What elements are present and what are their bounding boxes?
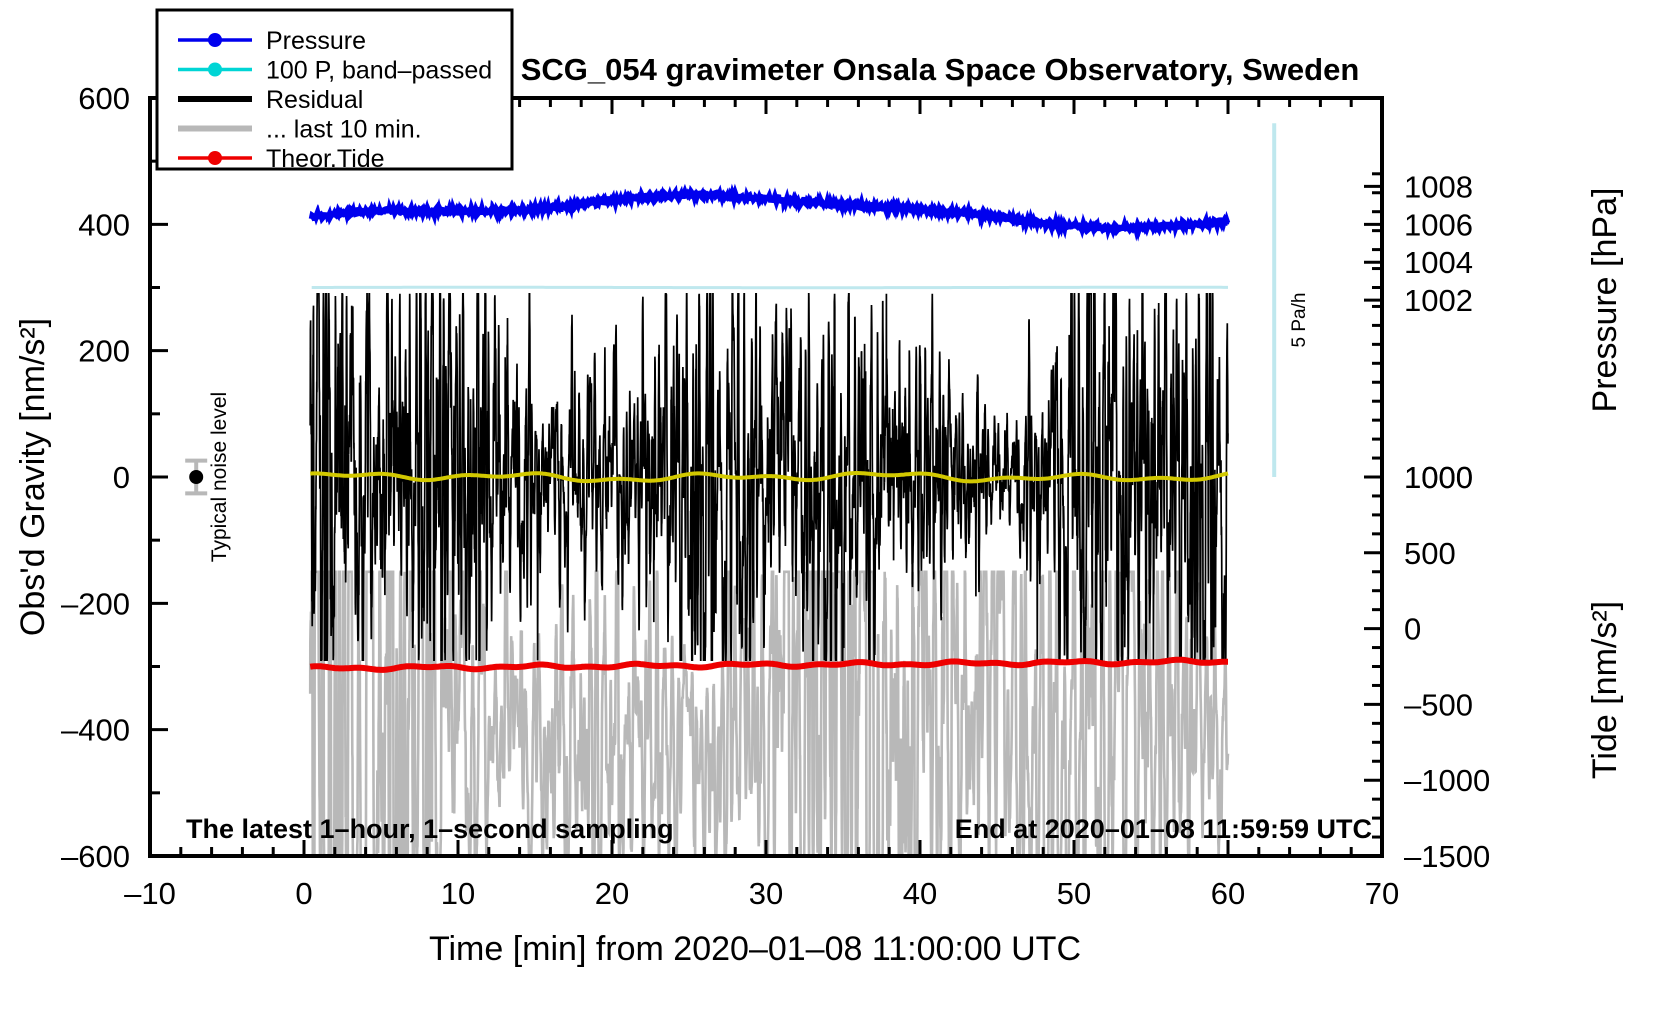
y-axis-title: Obs'd Gravity [nm/s²] — [14, 318, 52, 636]
tide-tick-label: –1000 — [1404, 763, 1490, 798]
y-tick-label: –200 — [61, 586, 130, 621]
y-tick-label: 600 — [78, 81, 130, 116]
pressure-tick-label: 1008 — [1404, 169, 1473, 204]
tide-tick-label: –1500 — [1404, 839, 1490, 874]
x-axis-title: Time [min] from 2020–01–08 11:00:00 UTC — [429, 930, 1081, 968]
legend-marker — [208, 63, 222, 77]
y-tick-label: 0 — [113, 460, 130, 495]
tide-tick-label: 0 — [1404, 612, 1421, 647]
x-tick-label: 40 — [903, 876, 937, 911]
x-tick-label: 20 — [595, 876, 629, 911]
gravimeter-chart: Typical noise level –10010203040506070 6… — [0, 0, 1660, 1020]
typical-noise-level-label: Typical noise level — [208, 392, 231, 562]
pressure-tick-label: 1002 — [1404, 283, 1473, 318]
y-axis-title-pressure: Pressure [hPa] — [1586, 188, 1624, 413]
x-tick-label: 0 — [295, 876, 312, 911]
x-tick-label: 70 — [1365, 876, 1399, 911]
legend-label: 100 P, band–passed — [266, 57, 492, 85]
tide-tick-label: –500 — [1404, 687, 1473, 722]
tide-tick-label: 500 — [1404, 536, 1456, 571]
y-tick-label: –600 — [61, 839, 130, 874]
legend-label: Theor.Tide — [266, 145, 385, 173]
legend-label: ... last 10 min. — [266, 116, 422, 144]
y-tick-label: –400 — [61, 713, 130, 748]
pressure-scale-bar-label: 5 Pa/h — [1289, 293, 1310, 348]
chart-title: SCG_054 gravimeter Onsala Space Observat… — [521, 52, 1360, 87]
chart-page: Typical noise level –10010203040506070 6… — [0, 0, 1660, 1020]
x-tick-label: 50 — [1057, 876, 1091, 911]
pressure-tick-label: 1004 — [1404, 245, 1473, 280]
legend-marker — [208, 33, 222, 47]
tide-tick-label: 1000 — [1404, 460, 1473, 495]
legend: Pressure100 P, band–passedResidual... la… — [157, 10, 512, 173]
sampling-note: The latest 1–hour, 1–second sampling — [186, 814, 674, 844]
legend-label: Pressure — [266, 27, 366, 55]
y-axis-title-tide: Tide [nm/s²] — [1586, 601, 1624, 779]
pressure-tick-label: 1006 — [1404, 207, 1473, 242]
y-tick-label: 400 — [78, 207, 130, 242]
x-tick-label: –10 — [124, 876, 176, 911]
x-tick-label: 10 — [441, 876, 475, 911]
legend-marker — [208, 151, 222, 165]
y-tick-label: 200 — [78, 334, 130, 369]
legend-label: Residual — [266, 86, 363, 114]
x-tick-label: 60 — [1211, 876, 1245, 911]
x-tick-label: 30 — [749, 876, 783, 911]
end-time-note: End at 2020–01–08 11:59:59 UTC — [955, 814, 1372, 844]
